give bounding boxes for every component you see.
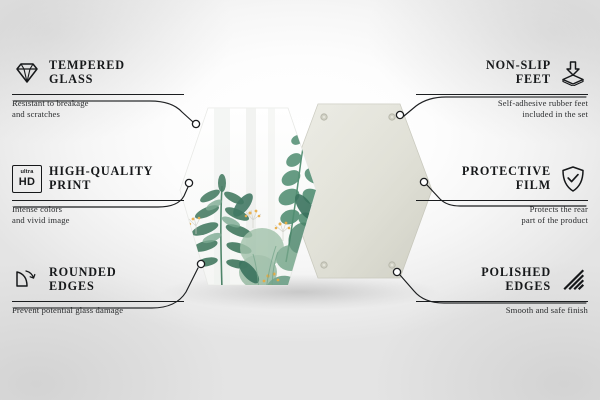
- feature-polished-edges: POLISHEDEDGES Smooth and safe finish: [416, 263, 588, 316]
- divider: [12, 94, 184, 95]
- divider: [12, 301, 184, 302]
- leader-endpoint-print: [185, 179, 192, 186]
- feature-protective-film: PROTECTIVEFILM Protects the rearpart of …: [416, 162, 588, 226]
- feature-title: TEMPEREDGLASS: [49, 59, 184, 86]
- leader-endpoint-rounded-edges: [197, 260, 204, 267]
- shield-check-icon: [558, 164, 588, 194]
- feature-description: Intense colorsand vivid image: [12, 204, 184, 226]
- feature-title: NON-SLIPFEET: [416, 59, 551, 86]
- infographic-canvas: TEMPEREDGLASS Resistant to breakageand s…: [0, 0, 600, 400]
- feature-high-quality-print: ultra HD HIGH-QUALITYPRINT Intense color…: [12, 162, 184, 226]
- feature-description: Smooth and safe finish: [416, 305, 588, 316]
- feature-rounded-edges: ROUNDEDEDGES Prevent potential glass dam…: [12, 263, 184, 316]
- feature-title: ROUNDEDEDGES: [49, 266, 184, 293]
- feature-description: Prevent potential glass damage: [12, 305, 184, 316]
- feature-non-slip-feet: NON-SLIPFEET Self-adhesive rubber feetin…: [416, 56, 588, 120]
- divider: [416, 200, 588, 201]
- divider: [416, 301, 588, 302]
- feature-title: POLISHEDEDGES: [416, 266, 551, 293]
- leader-endpoint-tempered-glass: [192, 120, 199, 127]
- feature-title: PROTECTIVEFILM: [416, 165, 551, 192]
- rounded-corner-icon: [12, 265, 42, 295]
- feature-tempered-glass: TEMPEREDGLASS Resistant to breakageand s…: [12, 56, 184, 120]
- leader-endpoint-polished-edges: [393, 268, 400, 275]
- feature-description: Protects the rearpart of the product: [416, 204, 588, 226]
- feature-description: Self-adhesive rubber feetincluded in the…: [416, 98, 588, 120]
- ultra-hd-badge-icon: ultra HD: [12, 164, 42, 194]
- divider: [416, 94, 588, 95]
- feature-title: HIGH-QUALITYPRINT: [49, 165, 184, 192]
- press-down-pad-icon: [558, 58, 588, 88]
- gloss-lines-icon: [558, 265, 588, 295]
- leader-endpoint-non-slip-feet: [396, 111, 403, 118]
- diamond-icon: [12, 58, 42, 88]
- divider: [12, 200, 184, 201]
- feature-description: Resistant to breakageand scratches: [12, 98, 184, 120]
